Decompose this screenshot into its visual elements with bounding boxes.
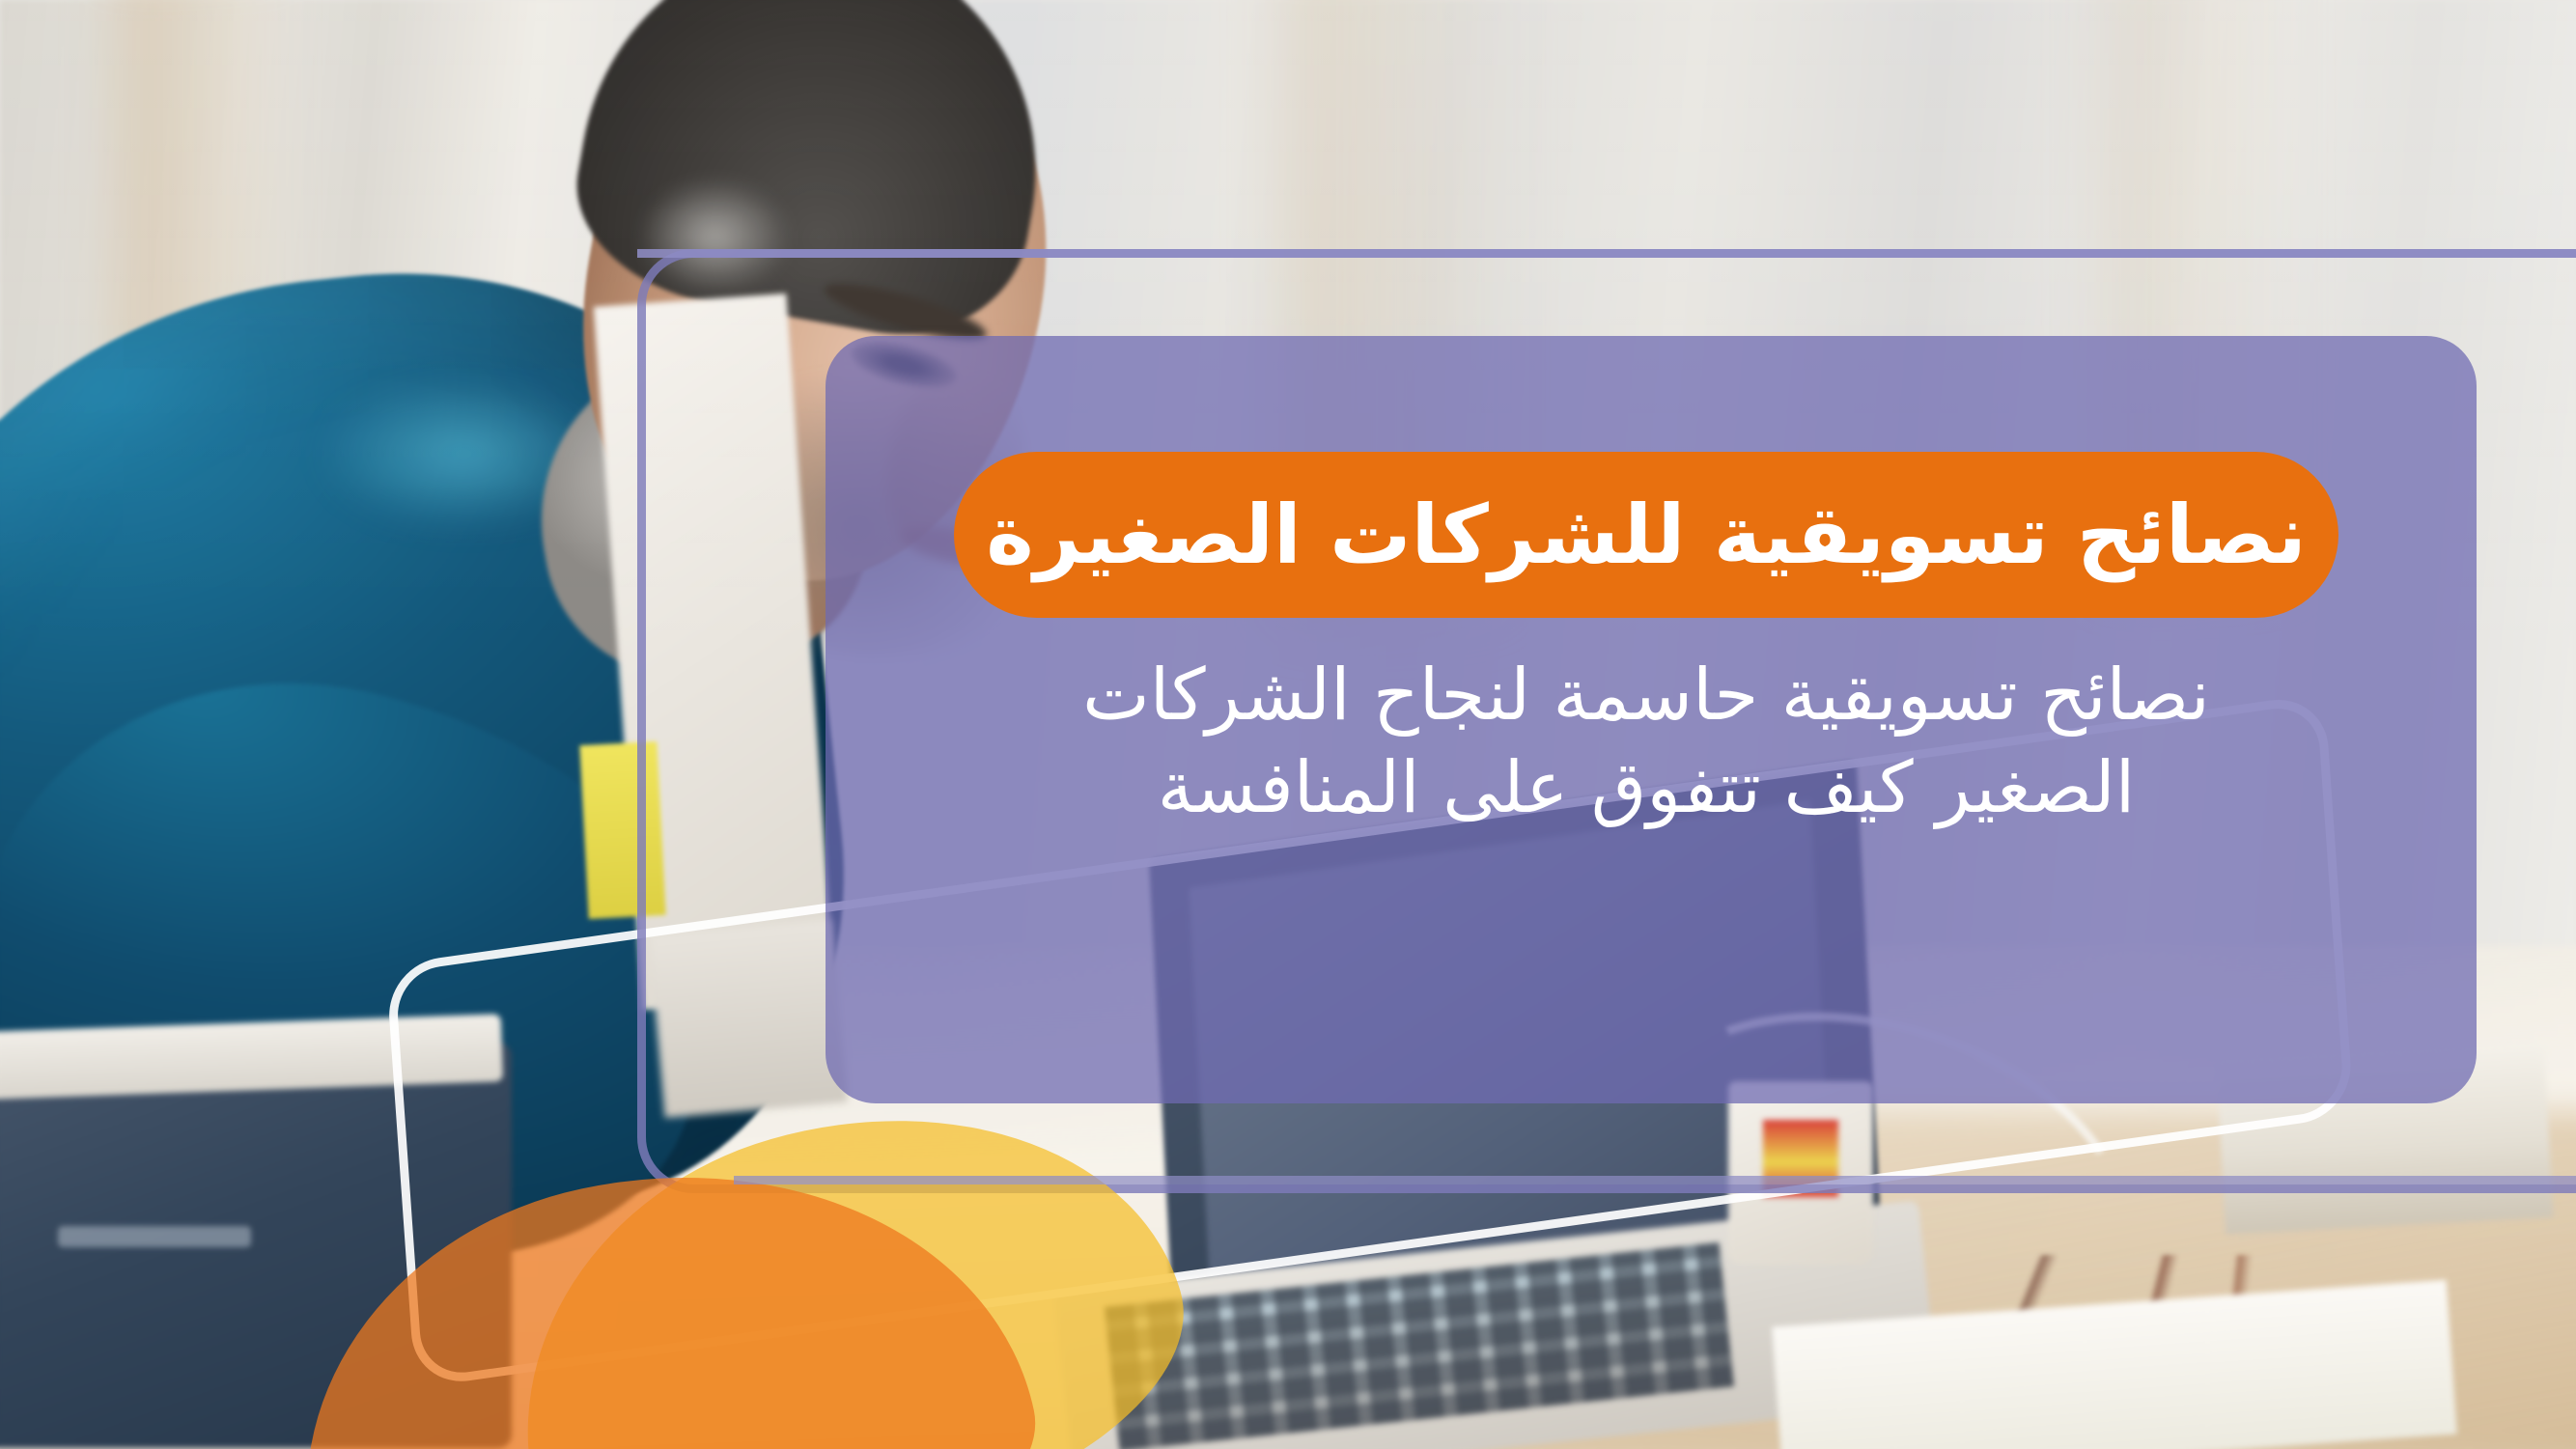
printer-paper-slot xyxy=(58,1226,251,1247)
man-hair-gray-temple xyxy=(608,154,821,319)
title-badge-label: نصائح تسويقية للشركات الصغيرة xyxy=(986,494,2307,575)
purple-rule-bottom xyxy=(734,1176,2576,1184)
sticky-note xyxy=(579,741,665,919)
subtitle-block: نصائح تسويقية حاسمة لنجاح الشركات الصغير… xyxy=(874,649,2419,834)
subtitle-line-2: الصغير كيف تتفوق على المنافسة xyxy=(874,741,2419,834)
monitor-stand xyxy=(649,919,848,1118)
marketing-banner: نصائح تسويقية للشركات الصغيرة نصائح تسوي… xyxy=(0,0,2576,1449)
title-badge: نصائح تسويقية للشركات الصغيرة xyxy=(954,452,2338,618)
subtitle-line-1: نصائح تسويقية حاسمة لنجاح الشركات xyxy=(874,649,2419,741)
